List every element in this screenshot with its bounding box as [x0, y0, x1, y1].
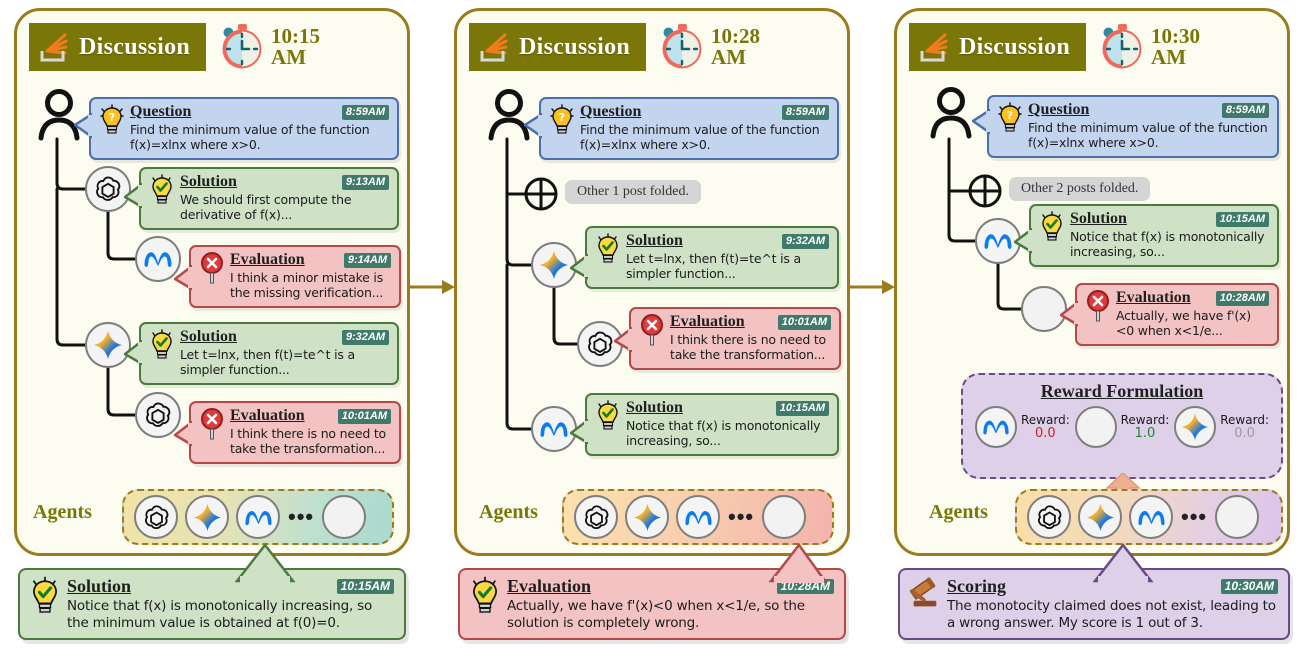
- message-title: Solution: [1070, 210, 1127, 228]
- bubble-tail: [174, 421, 192, 447]
- bubble-tail: [524, 113, 542, 139]
- message-timestamp: 9:32AM: [342, 330, 389, 345]
- panel-2-message-question[interactable]: ? Question 8:59AM Find the minimum value…: [539, 97, 839, 160]
- agent-chip-meta[interactable]: [676, 495, 720, 539]
- openai-logo-icon: [1035, 503, 1064, 532]
- panel-3-agents-bar: •••: [1015, 489, 1283, 545]
- panel-2-clock-text: 10:28 AM: [711, 26, 760, 68]
- agent-chip-blank[interactable]: [322, 495, 366, 539]
- panel-3-clock: 10:30 AM: [1100, 24, 1200, 70]
- panel-3-callout-tail: [1093, 543, 1155, 583]
- message-title: Solution: [626, 399, 683, 417]
- panel-1-clock: 10:15 AM: [220, 24, 320, 70]
- lightbulb-check-icon: [468, 576, 502, 616]
- magnifier-cross-icon: [199, 407, 225, 441]
- panel-1-clock-meridiem: AM: [271, 47, 320, 68]
- agent-chip-gemini[interactable]: [185, 495, 229, 539]
- agent-chip-openai[interactable]: [134, 495, 178, 539]
- panel-3-header: Discussion 10:30 AM: [909, 23, 1200, 71]
- message-title: Evaluation: [230, 407, 305, 425]
- gemini-logo-icon: [633, 503, 662, 532]
- panel-1-callout-solution[interactable]: Solution 10:15AM Notice that f(x) is mon…: [18, 568, 406, 640]
- panel-2-agents-label: Agents: [479, 501, 538, 524]
- discussion-panel-3: Discussion 10:30 AM: [894, 8, 1290, 556]
- lightbulb-check-icon: [149, 328, 175, 362]
- agent-chip-blank[interactable]: [1215, 495, 1259, 539]
- meta-logo-icon: [982, 230, 1014, 252]
- panel-2-title-chip: Discussion: [469, 23, 646, 71]
- message-title: Question: [580, 103, 641, 121]
- callout-text: Actually, we have f'(x)<0 when x<1/e, so…: [507, 598, 834, 631]
- stopwatch-icon: [660, 24, 704, 70]
- lightbulb-check-icon: [1039, 210, 1065, 244]
- discussion-panel-2: Discussion 10:28 AM: [454, 8, 850, 556]
- meta-logo-icon: [1136, 507, 1167, 528]
- agent-chip-blank[interactable]: [762, 495, 806, 539]
- message-timestamp: 10:15AM: [776, 401, 829, 416]
- panel-2-title: Discussion: [519, 34, 630, 61]
- panel-2-clock-hm: 10:28: [711, 26, 760, 47]
- agent-chip-gemini[interactable]: [1078, 495, 1122, 539]
- bubble-tail: [972, 109, 990, 135]
- meta-logo-icon: [538, 418, 570, 440]
- panel-2-header: Discussion 10:28 AM: [469, 23, 760, 71]
- message-title: Solution: [180, 328, 237, 346]
- callout-text: The monotocity claimed does not exist, l…: [947, 598, 1278, 631]
- magnifier-cross-icon: [199, 251, 225, 285]
- panel-1-message-solution-1[interactable]: Solution 9:13AM We should first compute …: [139, 167, 399, 230]
- panel-1-message-question[interactable]: ? Question 8:59AM Find the minimum value…: [89, 97, 399, 160]
- panel-1-agents-label: Agents: [33, 501, 92, 524]
- agent-chip-openai[interactable]: [574, 495, 618, 539]
- figure-canvas: Discussion: [0, 0, 1314, 667]
- agents-ellipsis: •••: [1180, 512, 1208, 522]
- panel-3-message-question[interactable]: ? Question 8:59AM Find the minimum value…: [987, 95, 1279, 158]
- bubble-tail: [174, 265, 192, 291]
- stopwatch-icon: [1100, 24, 1144, 70]
- panel-3-agents-label: Agents: [929, 501, 988, 524]
- panel-2-clock: 10:28 AM: [660, 24, 760, 70]
- message-title: Evaluation: [1116, 289, 1191, 307]
- agents-ellipsis: •••: [727, 512, 755, 522]
- bubble-tail: [1060, 301, 1078, 327]
- panel-1-agents-bar: •••: [122, 489, 394, 545]
- panel-1-clock-hm: 10:15: [271, 26, 320, 47]
- magnifier-cross-icon: [639, 313, 665, 347]
- callout-title: Solution: [67, 576, 131, 597]
- reward-value: 0.0: [1021, 427, 1070, 441]
- message-title: Evaluation: [670, 313, 745, 331]
- meta-logo-icon: [142, 248, 174, 270]
- discussion-board-icon: [39, 31, 69, 63]
- bubble-tail: [570, 254, 588, 280]
- message-timestamp: 10:01AM: [778, 315, 831, 330]
- callout-text: Notice that f(x) is monotonically increa…: [67, 598, 394, 631]
- reward-label: Reward:: [1121, 413, 1170, 427]
- callout-timestamp: 10:30AM: [1221, 579, 1278, 594]
- flow-arrow-2-to-3: [848, 276, 896, 298]
- reward-item-meta: Reward: 0.0: [975, 406, 1070, 448]
- message-text: Find the minimum value of the function f…: [580, 122, 829, 152]
- gemini-logo-icon: [539, 250, 569, 280]
- message-text: Notice that f(x) is monotonically increa…: [626, 418, 829, 448]
- reward-value: 1.0: [1121, 427, 1170, 441]
- message-title: Evaluation: [230, 251, 305, 269]
- message-text: Notice that f(x) is monotonically increa…: [1070, 229, 1269, 259]
- meta-logo-icon: [981, 417, 1011, 437]
- panel-1-title: Discussion: [79, 34, 190, 61]
- message-text: We should first compute the derivative o…: [180, 192, 389, 222]
- gemini-logo-icon: [1181, 413, 1209, 441]
- lightbulb-question-icon: ?: [997, 101, 1023, 135]
- bubble-tail: [614, 327, 632, 353]
- panel-1-message-solution-2[interactable]: Solution 9:32AM Let t=lnx, then f(t)=te^…: [139, 322, 399, 385]
- openai-logo-icon: [93, 174, 123, 204]
- agent-chip-meta[interactable]: [236, 495, 280, 539]
- message-timestamp: 10:01AM: [338, 409, 391, 424]
- message-text: Let t=lnx, then f(t)=te^t is a simpler f…: [180, 347, 389, 377]
- panel-2-callout-tail: [767, 543, 829, 583]
- panel-2-agents-bar: •••: [562, 489, 834, 545]
- lightbulb-question-icon: ?: [99, 103, 125, 137]
- openai-logo-icon: [585, 329, 615, 359]
- panel-2-message-solution-2[interactable]: Solution 10:15AM Notice that f(x) is mon…: [585, 393, 839, 456]
- message-title: Solution: [626, 232, 683, 250]
- message-text: I think there is no need to take the tra…: [670, 332, 831, 362]
- message-text: Find the minimum value of the function f…: [130, 122, 389, 152]
- panel-1-message-evaluation-1[interactable]: Evaluation 9:14AM I think a minor mistak…: [189, 245, 401, 308]
- panel-3-clock-meridiem: AM: [1151, 47, 1200, 68]
- message-title: Question: [1028, 101, 1089, 119]
- agent-chip-openai[interactable]: [1027, 495, 1071, 539]
- message-timestamp: 9:14AM: [344, 253, 391, 268]
- discussion-board-icon: [919, 31, 949, 63]
- reward-item-blank: Reward: 1.0: [1075, 406, 1170, 448]
- panel-3-user-icon: [926, 87, 976, 139]
- panel-3-title: Discussion: [959, 34, 1070, 61]
- reward-avatar-blank[interactable]: [1075, 406, 1117, 448]
- message-timestamp: 9:32AM: [782, 234, 829, 249]
- agent-chip-meta[interactable]: [1129, 495, 1173, 539]
- message-text: I think a minor mistake is the missing v…: [230, 270, 391, 300]
- lightbulb-check-icon: [595, 232, 621, 266]
- openai-logo-icon: [143, 400, 173, 430]
- bubble-tail: [124, 183, 142, 209]
- bubble-tail: [1014, 228, 1032, 254]
- panel-3-clock-text: 10:30 AM: [1151, 26, 1200, 68]
- panel-1-clock-text: 10:15 AM: [271, 26, 320, 68]
- panel-3-message-solution[interactable]: Solution 10:15AM Notice that f(x) is mon…: [1029, 204, 1279, 267]
- reward-label: Reward:: [1021, 413, 1070, 427]
- openai-logo-icon: [142, 503, 171, 532]
- panel-1-callout-tail: [235, 543, 297, 583]
- callout-timestamp: 10:15AM: [337, 579, 394, 594]
- agents-ellipsis: •••: [287, 512, 315, 522]
- meta-logo-icon: [243, 507, 274, 528]
- panel-1-title-chip: Discussion: [29, 23, 206, 71]
- reward-title: Reward Formulation: [973, 381, 1271, 402]
- svg-text:?: ?: [559, 111, 565, 124]
- reward-value: 0.0: [1220, 427, 1269, 441]
- meta-logo-icon: [683, 507, 714, 528]
- lightbulb-check-icon: [595, 399, 621, 433]
- message-text: Actually, we have f'(x) <0 when x<1/e...: [1116, 308, 1269, 338]
- message-text: Find the minimum value of the function f…: [1028, 120, 1269, 150]
- svg-text:?: ?: [109, 111, 115, 124]
- panel-3-clock-hm: 10:30: [1151, 26, 1200, 47]
- panel-2-folded-note[interactable]: Other 1 post folded.: [565, 180, 701, 204]
- agent-chip-gemini[interactable]: [625, 495, 669, 539]
- bubble-tail: [124, 340, 142, 366]
- gemini-logo-icon: [93, 330, 123, 360]
- magnifier-cross-icon: [1085, 289, 1111, 323]
- callout-title: Evaluation: [507, 576, 591, 597]
- discussion-board-icon: [479, 31, 509, 63]
- discussion-panel-1: Discussion: [14, 8, 410, 556]
- panel-3-folded-note[interactable]: Other 2 posts folded.: [1009, 177, 1150, 201]
- panel-2-message-evaluation-1[interactable]: Evaluation 10:01AM I think there is no n…: [629, 307, 841, 370]
- gemini-logo-icon: [193, 503, 222, 532]
- bubble-tail: [74, 113, 92, 139]
- message-title: Question: [130, 103, 191, 121]
- panel-1-message-evaluation-2[interactable]: Evaluation 10:01AM I think there is no n…: [189, 401, 401, 464]
- panel-2-message-solution-1[interactable]: Solution 9:32AM Let t=lnx, then f(t)=te^…: [585, 226, 839, 289]
- bubble-tail: [570, 419, 588, 445]
- reward-avatar-gemini[interactable]: [1174, 406, 1216, 448]
- message-timestamp: 9:13AM: [342, 175, 389, 190]
- reward-label: Reward:: [1220, 413, 1269, 427]
- message-timestamp: 8:59AM: [342, 105, 389, 120]
- gavel-icon: [908, 576, 942, 616]
- message-text: I think there is no need to take the tra…: [230, 426, 391, 456]
- reward-avatar-meta[interactable]: [975, 406, 1017, 448]
- panel-2-clock-meridiem: AM: [711, 47, 760, 68]
- message-title: Solution: [180, 173, 237, 191]
- lightbulb-check-icon: [149, 173, 175, 207]
- message-timestamp: 8:59AM: [1222, 103, 1269, 118]
- flow-arrow-1-to-2: [408, 276, 456, 298]
- panel-3-message-evaluation[interactable]: Evaluation 10:28AM Actually, we have f'(…: [1075, 283, 1279, 346]
- message-timestamp: 8:59AM: [782, 105, 829, 120]
- panel-3-title-chip: Discussion: [909, 23, 1086, 71]
- stopwatch-icon: [220, 24, 264, 70]
- callout-title: Scoring: [947, 576, 1006, 597]
- message-text: Let t=lnx, then f(t)=te^t is a simpler f…: [626, 251, 829, 281]
- panel-1-header: Discussion: [29, 23, 320, 71]
- message-timestamp: 10:15AM: [1216, 212, 1269, 227]
- reward-item-gemini: Reward: 0.0: [1174, 406, 1269, 448]
- message-timestamp: 10:28AM: [1216, 291, 1269, 306]
- lightbulb-check-icon: [28, 576, 62, 616]
- lightbulb-question-icon: ?: [549, 103, 575, 137]
- openai-logo-icon: [582, 503, 611, 532]
- svg-text:?: ?: [1007, 109, 1013, 122]
- gemini-logo-icon: [1086, 503, 1115, 532]
- panel-3-reward-formulation: Reward Formulation Reward: 0.0: [961, 373, 1283, 479]
